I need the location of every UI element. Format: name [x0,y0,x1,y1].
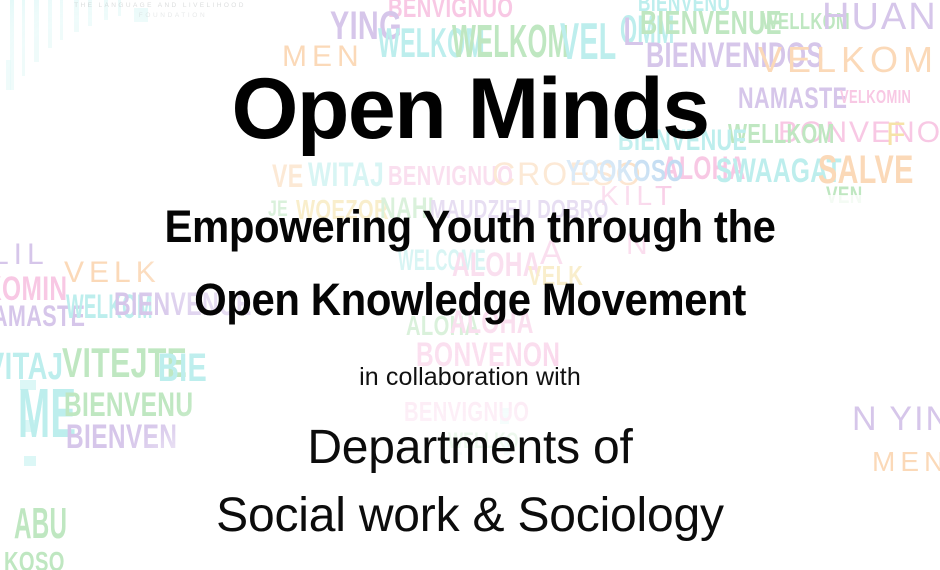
department-line-2: Social work & Sociology [0,489,940,543]
page-title: Open Minds [0,66,940,152]
collaboration-label: in collaboration with [0,363,940,392]
slide-canvas: BENVIGNUOYINGWELKOMWELKOMMENVELOMMBIENVE… [0,0,940,570]
subtitle-line-1: Empowering Youth through the [33,203,907,250]
logo-line-2: FOUNDATION [0,12,320,19]
logo-line-1: THE LANGUAGE AND LIVELIHOOD [0,2,320,9]
slide-content: THE LANGUAGE AND LIVELIHOOD FOUNDATION O… [0,0,940,570]
subtitle-line-2: Open Knowledge Movement [33,276,907,323]
department-line-1: Departments of [0,421,940,475]
foundation-logo: THE LANGUAGE AND LIVELIHOOD FOUNDATION [0,2,320,19]
